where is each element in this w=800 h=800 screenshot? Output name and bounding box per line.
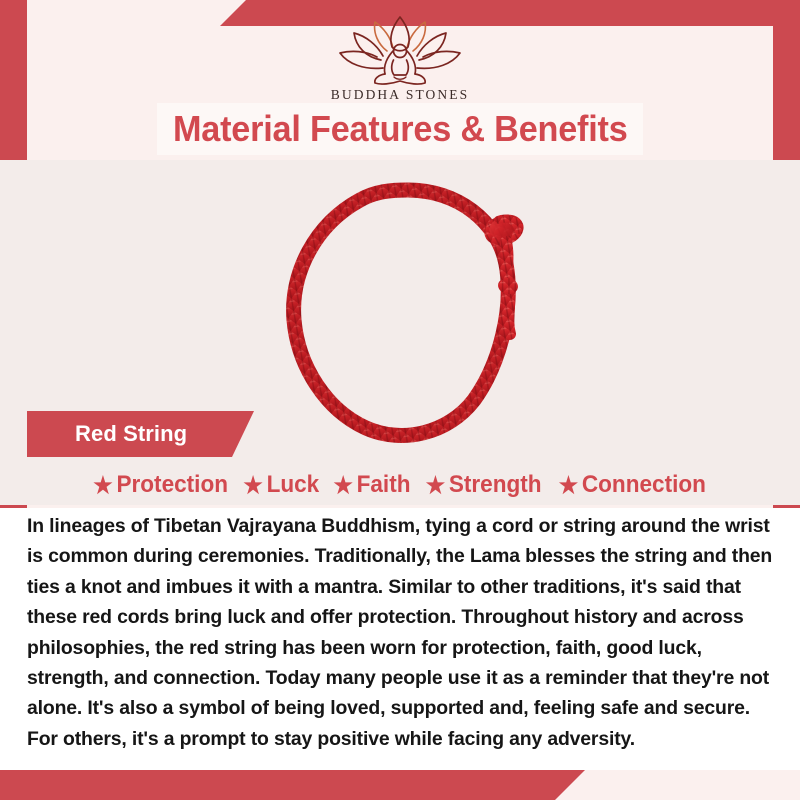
keyword-connection: ★ Connection [559,471,706,499]
red-string-bracelet-image [262,168,552,458]
keyword-luck: ★ Luck [244,471,320,499]
keyword-faith: ★ Faith [333,471,410,499]
keyword-label: Faith [357,471,411,499]
keyword-label: Protection [117,471,229,499]
description-text: In lineages of Tibetan Vajrayana Buddhis… [27,511,775,754]
star-icon: ★ [426,474,445,497]
keyword-protection: ★ Protection [93,471,228,499]
star-icon: ★ [244,474,263,497]
product-label: Red String [75,421,187,447]
brand-logo: BUDDHA STONES [0,14,800,103]
keyword-label: Luck [267,471,320,499]
lotus-meditation-figure-icon [335,14,465,86]
star-icon: ★ [559,474,578,497]
keyword-label: Connection [582,471,706,499]
page-title-band: Material Features & Benefits [157,103,643,155]
keyword-label: Strength [449,471,542,499]
infographic-page: BUDDHA STONES Material Features & Benefi… [0,0,800,800]
product-label-ribbon: Red String [27,411,254,457]
star-icon: ★ [93,474,112,497]
bottom-red-band [0,770,585,800]
brand-wordmark: BUDDHA STONES [0,87,800,103]
page-title: Material Features & Benefits [173,108,628,150]
benefit-keyword-strip: ★ Protection ★ Luck ★ Faith ★ Strength ★… [27,462,773,508]
keyword-strength: ★ Strength [426,471,542,499]
star-icon: ★ [333,474,352,497]
